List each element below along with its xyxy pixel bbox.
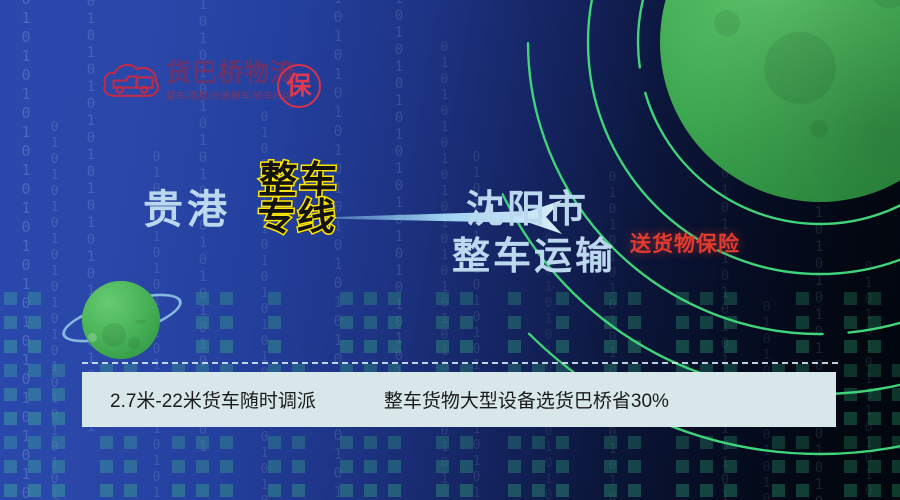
pixel-square	[268, 484, 281, 497]
pixel-square	[268, 340, 281, 353]
pixel-square	[628, 460, 641, 473]
pixel-square	[460, 316, 473, 329]
pixel-square	[124, 460, 137, 473]
dashed-divider	[82, 362, 838, 364]
binary-column: 0101010101010101010101010101	[862, 260, 875, 500]
pixel-square	[4, 460, 17, 473]
pixel-square	[436, 292, 449, 305]
pixel-square	[172, 436, 185, 449]
pixel-square	[700, 316, 713, 329]
pixel-square	[844, 388, 857, 401]
pixel-square	[844, 292, 857, 305]
pixel-square	[700, 292, 713, 305]
pixel-square	[892, 436, 900, 449]
pixel-square	[388, 316, 401, 329]
pixel-square	[868, 340, 881, 353]
pixel-square	[628, 292, 641, 305]
pixel-square	[532, 484, 545, 497]
pixel-square	[340, 436, 353, 449]
destination-service: 整车运输	[452, 237, 616, 278]
info-bar: 2.7米-22米货车随时调派 整车货物大型设备选货巴桥省30%	[82, 372, 836, 427]
info-bar-right-text: 整车货物大型设备选货巴桥省30%	[384, 386, 669, 413]
pixel-square	[364, 436, 377, 449]
info-bar-left-text: 2.7米-22米货车随时调派	[110, 386, 316, 413]
pixel-square	[508, 436, 521, 449]
pixel-square	[796, 340, 809, 353]
pixel-square	[268, 460, 281, 473]
pixel-square	[340, 316, 353, 329]
pixel-square	[796, 316, 809, 329]
destination-city: 沈阳市	[466, 190, 616, 231]
pixel-square	[628, 484, 641, 497]
pixel-square	[436, 460, 449, 473]
pixel-square	[892, 412, 900, 425]
pixel-square	[556, 460, 569, 473]
pixel-square	[52, 436, 65, 449]
pixel-square	[340, 484, 353, 497]
pixel-square	[508, 316, 521, 329]
pixel-square	[388, 460, 401, 473]
pixel-square	[28, 340, 41, 353]
pixel-square	[868, 316, 881, 329]
pixel-square	[436, 436, 449, 449]
pixel-square	[460, 292, 473, 305]
pixel-square	[844, 460, 857, 473]
pixel-square	[268, 292, 281, 305]
route-type-badge: 整车 专线	[256, 163, 340, 237]
pixel-square	[724, 436, 737, 449]
pixel-square	[508, 460, 521, 473]
pixel-square	[52, 388, 65, 401]
pixel-square	[700, 484, 713, 497]
pixel-square	[4, 436, 17, 449]
pixel-square	[436, 340, 449, 353]
origin-city: 贵港	[143, 190, 231, 230]
pixel-square	[556, 484, 569, 497]
pixel-square	[724, 484, 737, 497]
pixel-square	[892, 364, 900, 377]
pixel-square	[388, 340, 401, 353]
pixel-square	[508, 484, 521, 497]
pixel-square	[388, 484, 401, 497]
pixel-square	[268, 436, 281, 449]
pixel-square	[844, 316, 857, 329]
pixel-square	[604, 340, 617, 353]
pixel-square	[292, 436, 305, 449]
pixel-square	[220, 340, 233, 353]
pixel-square	[796, 436, 809, 449]
pixel-square	[604, 292, 617, 305]
destination-city-block: 沈阳市 整车运输	[466, 190, 616, 278]
pixel-square	[892, 388, 900, 401]
pixel-square	[100, 460, 113, 473]
pixel-square	[172, 484, 185, 497]
pixel-square	[724, 316, 737, 329]
pixel-square	[844, 340, 857, 353]
pixel-square	[700, 340, 713, 353]
pixel-square	[700, 460, 713, 473]
pixel-square	[196, 484, 209, 497]
brand-logo[interactable]: 货巴桥物流 整车/零担/长途搬车/轿车托运	[100, 58, 296, 104]
pixel-square	[268, 316, 281, 329]
pixel-square	[604, 436, 617, 449]
pixel-square	[100, 484, 113, 497]
pixel-square	[340, 292, 353, 305]
pixel-square	[796, 484, 809, 497]
pixel-square	[388, 436, 401, 449]
pixel-square	[772, 484, 785, 497]
pixel-square	[844, 412, 857, 425]
insurance-badge-icon: 保	[277, 64, 321, 108]
pixel-square	[796, 460, 809, 473]
pixel-square	[364, 460, 377, 473]
pixel-square	[28, 460, 41, 473]
pixel-square	[28, 412, 41, 425]
pixel-square	[628, 436, 641, 449]
pixel-square	[220, 436, 233, 449]
pixel-square	[676, 340, 689, 353]
pixel-square	[52, 484, 65, 497]
route-badge-line-2: 专线	[256, 200, 338, 237]
pixel-square	[220, 292, 233, 305]
poster-canvas: 0101010101010101010101010101 01010101010…	[0, 0, 900, 500]
pixel-square	[364, 484, 377, 497]
pixel-square	[724, 460, 737, 473]
pixel-square	[364, 340, 377, 353]
pixel-square	[532, 460, 545, 473]
pixel-square	[868, 460, 881, 473]
pixel-square	[556, 292, 569, 305]
pixel-square	[724, 340, 737, 353]
pixel-square	[844, 364, 857, 377]
pixel-square	[532, 436, 545, 449]
pixel-square	[604, 316, 617, 329]
pixel-square	[556, 316, 569, 329]
pixel-square	[724, 292, 737, 305]
pixel-square	[28, 484, 41, 497]
pixel-square	[868, 436, 881, 449]
pixel-square	[868, 412, 881, 425]
planet-icon	[660, 0, 900, 202]
pixel-square	[868, 292, 881, 305]
pixel-square	[4, 292, 17, 305]
pixel-square	[844, 484, 857, 497]
insurance-note: 送货物保险	[630, 228, 740, 258]
pixel-square	[28, 364, 41, 377]
pixel-square	[388, 292, 401, 305]
pixel-square	[124, 484, 137, 497]
pixel-square	[892, 484, 900, 497]
pixel-square	[4, 340, 17, 353]
pixel-square	[196, 316, 209, 329]
pixel-square	[4, 388, 17, 401]
pixel-square	[220, 460, 233, 473]
pixel-square	[460, 340, 473, 353]
pixel-square	[460, 484, 473, 497]
pixel-square	[700, 436, 713, 449]
pixel-square	[772, 436, 785, 449]
pixel-square	[676, 460, 689, 473]
binary-column: 0101010101010101010101010101	[48, 120, 61, 500]
pixel-square	[868, 484, 881, 497]
pixel-square	[772, 460, 785, 473]
pixel-square	[220, 484, 233, 497]
pixel-square	[220, 316, 233, 329]
pixel-square	[292, 484, 305, 497]
pixel-square	[52, 460, 65, 473]
pixel-square	[124, 436, 137, 449]
pixel-square	[4, 316, 17, 329]
pixel-square	[436, 484, 449, 497]
pixel-square	[196, 436, 209, 449]
cloud-truck-icon	[100, 58, 162, 104]
pixel-square	[676, 316, 689, 329]
pixel-square	[628, 316, 641, 329]
pixel-square	[604, 484, 617, 497]
pixel-square	[676, 292, 689, 305]
pixel-square	[364, 316, 377, 329]
pixel-square	[52, 412, 65, 425]
pixel-square	[172, 460, 185, 473]
pixel-square	[4, 364, 17, 377]
pixel-square	[460, 436, 473, 449]
pixel-square	[340, 460, 353, 473]
pixel-square	[340, 340, 353, 353]
pixel-square	[292, 460, 305, 473]
pixel-square	[28, 436, 41, 449]
pixel-square	[556, 340, 569, 353]
binary-column: 0101010101010101010101010101	[18, 0, 33, 500]
pixel-square	[604, 460, 617, 473]
pixel-square	[892, 460, 900, 473]
pixel-square	[508, 340, 521, 353]
pixel-square	[196, 460, 209, 473]
pixel-square	[676, 484, 689, 497]
pixel-square	[868, 388, 881, 401]
pixel-square	[196, 292, 209, 305]
pixel-square	[196, 340, 209, 353]
pixel-square	[676, 436, 689, 449]
pixel-square	[868, 364, 881, 377]
pixel-square	[628, 340, 641, 353]
pixel-square	[52, 364, 65, 377]
pixel-square	[28, 388, 41, 401]
pixel-square	[844, 436, 857, 449]
pixel-square	[100, 436, 113, 449]
pixel-square	[28, 292, 41, 305]
pixel-square	[4, 412, 17, 425]
pixel-square	[796, 292, 809, 305]
pixel-square	[364, 292, 377, 305]
pixel-square	[556, 436, 569, 449]
pixel-square	[436, 316, 449, 329]
binary-column: 0101010101010101010101010101	[84, 0, 98, 436]
pixel-square	[460, 460, 473, 473]
pixel-square	[28, 316, 41, 329]
route-badge-line-1: 整车	[258, 163, 340, 200]
pixel-square	[4, 484, 17, 497]
pixel-square	[508, 292, 521, 305]
